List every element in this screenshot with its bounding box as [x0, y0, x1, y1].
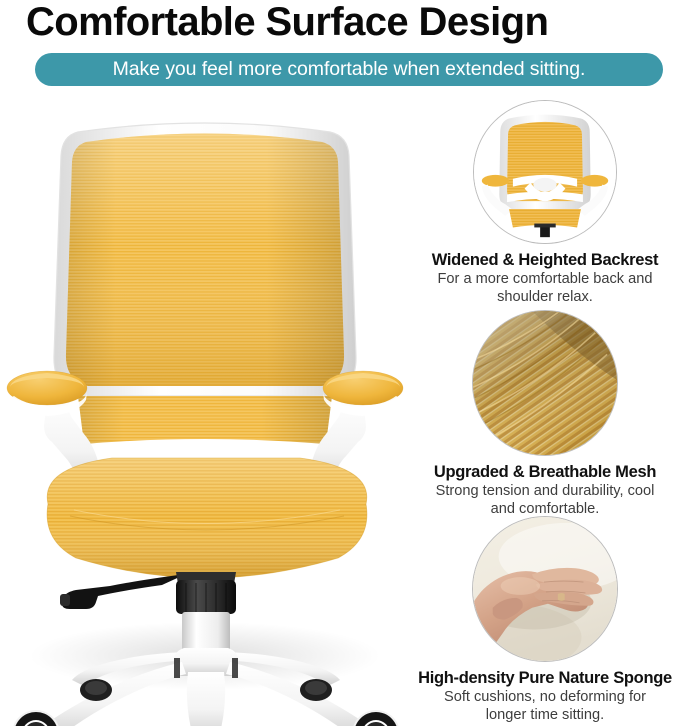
height-adjust-lever: [60, 574, 186, 609]
feature-title: Widened & Heighted Backrest: [411, 250, 679, 270]
feature-title: Upgraded & Breathable Mesh: [411, 462, 679, 482]
feature-description: Soft cushions, no deforming for longer t…: [411, 689, 679, 724]
feature-description: Strong tension and durability, cool and …: [411, 483, 679, 518]
seat-cushion: [47, 458, 367, 578]
feature-description: For a more comfortable back and shoulder…: [411, 271, 679, 306]
feature-block-mesh: Upgraded & Breathable Mesh Strong tensio…: [411, 310, 679, 518]
feature-desc-line1: Soft cushions, no deforming for: [444, 689, 646, 705]
product-chair-image: [0, 96, 415, 726]
mesh-closeup-icon: [472, 310, 618, 456]
subtitle-text: Make you feel more comfortable when exte…: [113, 58, 586, 81]
subtitle-banner: Make you feel more comfortable when exte…: [35, 53, 663, 86]
page-title: Comfortable Surface Design: [26, 0, 666, 46]
feature-desc-line2: shoulder relax.: [411, 289, 679, 307]
feature-block-backrest: Widened & Heighted Backrest For a more c…: [411, 100, 679, 306]
feature-desc-line2: longer time sitting.: [411, 707, 679, 725]
hand-on-foam-icon: [472, 516, 618, 662]
backrest-mesh: [54, 123, 356, 396]
feature-title: High-density Pure Nature Sponge: [411, 668, 679, 688]
feature-block-sponge: High-density Pure Nature Sponge Soft cus…: [411, 516, 679, 724]
chair-back-view-icon: [473, 100, 617, 244]
feature-desc-line1: For a more comfortable back and: [438, 271, 653, 287]
feature-desc-line1: Strong tension and durability, cool: [436, 483, 655, 499]
